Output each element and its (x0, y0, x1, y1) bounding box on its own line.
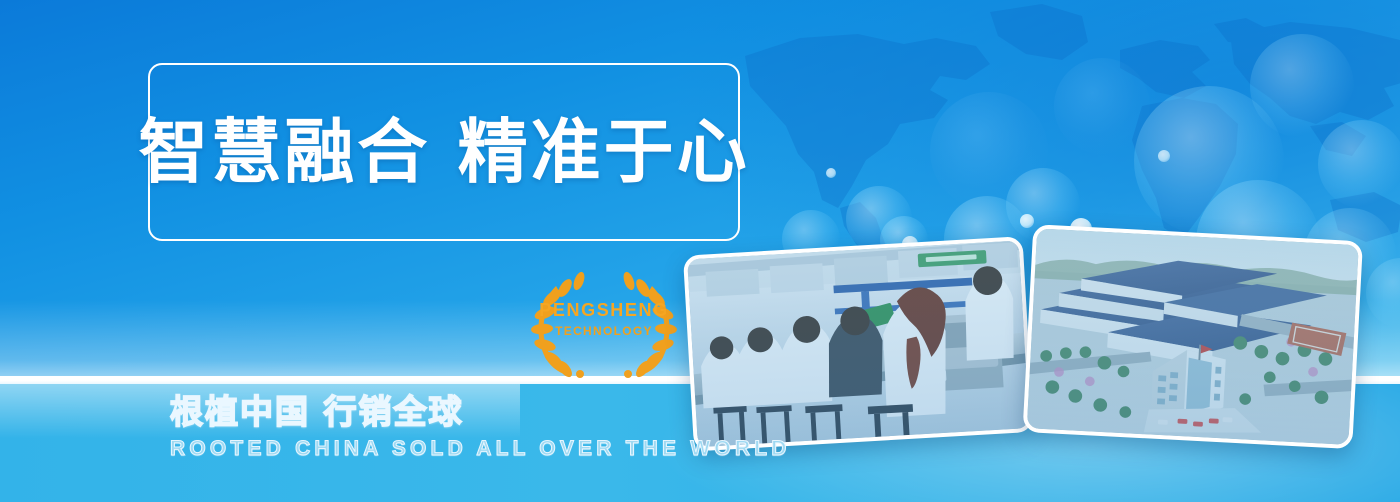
headline-text: 智慧融合 精准于心 (138, 117, 749, 187)
tagline-chinese: 根植中国 行销全球 (170, 394, 730, 430)
bokeh-circle (1054, 58, 1150, 154)
photo-campus-aerial[interactable] (1023, 224, 1363, 449)
company-banner: 智慧融合 精准于心 (0, 0, 1400, 502)
bokeh-circle (1134, 86, 1284, 236)
bokeh-circle (1250, 34, 1354, 138)
bokeh-circle (1318, 120, 1400, 208)
bokeh-circle (930, 92, 1048, 210)
bokeh-dot (1020, 214, 1034, 228)
photo-production-line[interactable] (683, 236, 1034, 451)
emblem-subtitle: TECHNOLOGY (555, 324, 653, 338)
bokeh-dot (1158, 150, 1170, 162)
bokeh-circle (1366, 258, 1400, 328)
headline-box: 智慧融合 精准于心 (148, 63, 740, 241)
tagline-block: 根植中国 行销全球 ROOTED CHINA SOLD ALL OVER THE… (170, 394, 730, 461)
tagline-english: ROOTED CHINA SOLD ALL OVER THE WORLD (170, 437, 730, 461)
bokeh-dot (826, 168, 836, 178)
laurel-wreath-icon: PENGSHENG TECHNOLOGY (522, 268, 686, 380)
campus-aerial-illustration (1027, 228, 1359, 445)
emblem-name: PENGSHENG (539, 300, 668, 321)
production-line-illustration (687, 240, 1029, 447)
